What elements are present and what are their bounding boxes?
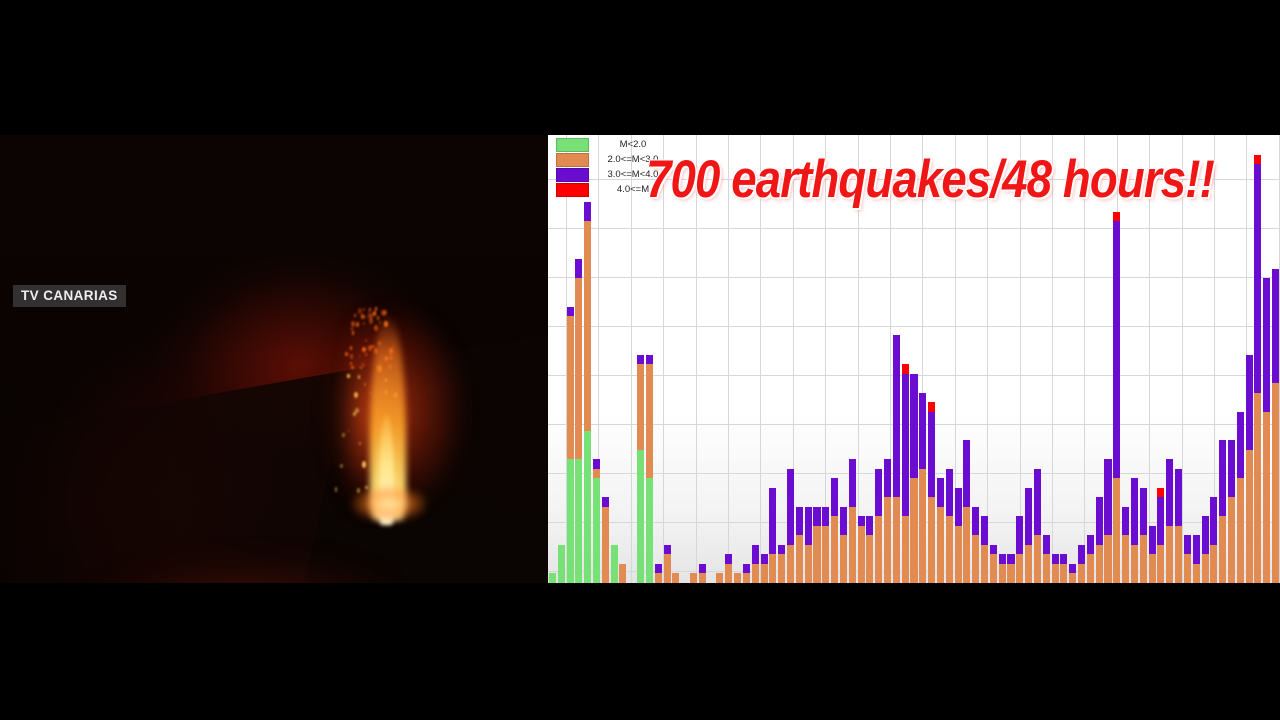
bar-segment-30M40 (1007, 554, 1014, 564)
bar-segment-20M30 (902, 516, 909, 583)
histogram-bar (646, 354, 653, 583)
bar-segment-30M40 (699, 564, 706, 574)
lava-particle (350, 362, 353, 366)
histogram-bar (963, 440, 970, 583)
histogram-bar (1149, 526, 1156, 583)
bar-segment-20M30 (1210, 545, 1217, 583)
histogram-bar (1246, 354, 1253, 583)
histogram-bar (1034, 469, 1041, 583)
lava-particle (373, 311, 377, 316)
histogram-bar (1122, 507, 1129, 583)
bar-segment-30M40 (1202, 516, 1209, 554)
bar-segment-20M30 (787, 545, 794, 583)
bar-segment-20M30 (646, 364, 653, 478)
histogram-bar (1016, 516, 1023, 583)
histogram-bar (893, 335, 900, 583)
lava-particle (352, 331, 354, 334)
bar-segment-30M40 (796, 507, 803, 536)
bar-segment-30M40 (1210, 497, 1217, 545)
histogram-bar (725, 554, 732, 583)
histogram-bar (769, 488, 776, 583)
bar-segment-20M30 (840, 535, 847, 583)
histogram-bar (1175, 469, 1182, 583)
bar-segment-20M30 (1219, 516, 1226, 583)
bar-segment-30M40 (655, 564, 662, 574)
bar-segment-20M30 (946, 516, 953, 583)
histogram-bar (1202, 516, 1209, 583)
histogram-bar (866, 516, 873, 583)
bar-segment-20M30 (734, 573, 741, 583)
bar-segment-30M40 (1219, 440, 1226, 516)
lava-particle (351, 366, 353, 369)
histogram-bar (1096, 497, 1103, 583)
bar-segment-M20 (637, 450, 644, 583)
histogram-bar (919, 393, 926, 583)
bar-segment-30M40 (1272, 269, 1279, 383)
bar-segment-30M40 (928, 412, 935, 498)
bar-segment-20M30 (761, 564, 768, 583)
bar-segment-20M30 (567, 316, 574, 459)
bar-segment-20M30 (972, 535, 979, 583)
histogram-bar (1228, 440, 1235, 583)
histogram-bar (840, 507, 847, 583)
bar-segment-30M40 (981, 516, 988, 545)
bar-segment-30M40 (1157, 497, 1164, 545)
bar-segment-30M40 (646, 355, 653, 365)
lava-particle (358, 375, 361, 379)
bar-segment-30M40 (919, 393, 926, 469)
lava-particle (351, 328, 352, 330)
bar-segment-20M30 (884, 497, 891, 583)
lava-particle (369, 318, 373, 324)
bar-segment-20M30 (769, 554, 776, 583)
bar-segment-20M30 (1069, 573, 1076, 583)
bar-segment-30M40 (999, 554, 1006, 564)
histogram-bar (690, 573, 697, 583)
bar-segment-30M40 (1175, 469, 1182, 526)
bar-segment-30M40 (849, 459, 856, 507)
bar-segment-30M40 (1052, 554, 1059, 564)
bar-segment-M20 (549, 573, 556, 583)
histogram-bar (584, 202, 591, 583)
lava-particle (351, 321, 355, 327)
bar-segment-30M40 (1140, 488, 1147, 536)
bar-segment-20M30 (743, 573, 750, 583)
bar-segment-30M40 (1060, 554, 1067, 564)
lava-particle (368, 345, 372, 351)
bar-segment-30M40 (725, 554, 732, 564)
lava-particle (363, 322, 365, 325)
histogram-bar (1219, 440, 1226, 583)
bar-segment-30M40 (1254, 164, 1261, 393)
histogram-bar (1087, 535, 1094, 583)
histogram-bar (858, 516, 865, 583)
lava-particle (362, 363, 364, 366)
histogram-bar (1060, 554, 1067, 583)
bar-segment-20M30 (1025, 545, 1032, 583)
bar-segment-30M40 (1078, 545, 1085, 564)
histogram-bar (1157, 488, 1164, 583)
histogram-bar (849, 459, 856, 583)
histogram-bar (619, 564, 626, 583)
bar-segment-30M40 (1034, 469, 1041, 536)
bar-segment-20M30 (672, 573, 679, 583)
bar-segment-20M30 (999, 564, 1006, 583)
histogram-bar (593, 459, 600, 583)
bar-segment-30M40 (761, 554, 768, 564)
lava-particle (354, 392, 358, 398)
bar-segment-M20 (611, 545, 618, 583)
bar-segment-20M30 (1272, 383, 1279, 583)
bar-segment-20M30 (655, 573, 662, 583)
bar-segment-30M40 (866, 516, 873, 535)
bar-segment-30M40 (813, 507, 820, 526)
bar-segment-20M30 (1246, 450, 1253, 583)
bar-segment-30M40 (1087, 535, 1094, 554)
bar-segment-20M30 (1052, 564, 1059, 583)
bar-segment-20M30 (593, 469, 600, 479)
bar-segment-30M40 (752, 545, 759, 564)
histogram-bar (558, 545, 565, 583)
lava-particle (359, 355, 360, 357)
bar-segment-30M40 (955, 488, 962, 526)
histogram-bar (1078, 545, 1085, 583)
bar-segment-20M30 (716, 573, 723, 583)
bar-segment-20M30 (919, 469, 926, 583)
bar-segment-20M30 (725, 564, 732, 583)
histogram-bar (1272, 269, 1279, 583)
lava-particle (342, 433, 345, 437)
histogram-bar (1254, 155, 1261, 583)
lava-particle (350, 346, 353, 350)
bar-segment-30M40 (1131, 478, 1138, 545)
histogram-bar (752, 545, 759, 583)
lava-particle (353, 412, 356, 416)
screenshot-root: TV CANARIAS M<2.02.0<=M<3.03.0<=M<4.04.0… (0, 0, 1280, 720)
bar-segment-20M30 (1113, 478, 1120, 583)
lava-particle (359, 442, 361, 445)
histogram-bar (1131, 478, 1138, 583)
bar-segment-20M30 (1166, 526, 1173, 583)
bar-segment-30M40 (1228, 440, 1235, 497)
bar-segment-20M30 (584, 221, 591, 430)
histogram-bar (637, 354, 644, 583)
bar-segment-20M30 (1096, 545, 1103, 583)
bar-segment-30M40 (840, 507, 847, 536)
bar-segment-30M40 (567, 307, 574, 317)
bar-segment-20M30 (1007, 564, 1014, 583)
lava-particle (356, 313, 357, 315)
lava-particle (356, 322, 359, 327)
bar-segment-20M30 (619, 564, 626, 583)
bar-segment-20M30 (875, 516, 882, 583)
bar-segment-20M30 (1202, 554, 1209, 583)
histogram-bar (1104, 459, 1111, 583)
bar-segment-20M30 (1149, 554, 1156, 583)
histogram-bar (734, 573, 741, 583)
bar-segment-30M40 (875, 469, 882, 517)
bar-segment-20M30 (955, 526, 962, 583)
bar-segment-20M30 (1228, 497, 1235, 583)
bar-segment-20M30 (1043, 554, 1050, 583)
legend-swatch-icon (556, 138, 589, 152)
histogram-bar (602, 497, 609, 583)
lava-particle (347, 374, 350, 378)
bar-segment-30M40 (1246, 355, 1253, 450)
histogram-bar (699, 564, 706, 583)
bar-segment-30M40 (1122, 507, 1129, 536)
bar-segment-20M30 (1157, 545, 1164, 583)
histogram-bar (999, 554, 1006, 583)
bar-segment-40M (902, 364, 909, 374)
bar-segment-30M40 (593, 459, 600, 469)
bar-segment-M20 (558, 545, 565, 583)
lava-particle (362, 347, 366, 352)
bar-segment-30M40 (1043, 535, 1050, 554)
histogram-bar (981, 516, 988, 583)
histogram-bar (655, 564, 662, 583)
bar-segment-40M (1254, 155, 1261, 165)
histogram-bar (1193, 535, 1200, 583)
bar-segment-20M30 (699, 573, 706, 583)
bar-segment-30M40 (664, 545, 671, 555)
histogram-bar (884, 459, 891, 583)
bar-segment-20M30 (1254, 393, 1261, 583)
bar-segment-30M40 (1104, 459, 1111, 535)
lava-particle (345, 352, 348, 356)
bar-segment-30M40 (1016, 516, 1023, 554)
histogram-bar (1025, 488, 1032, 583)
bar-segment-30M40 (1263, 278, 1270, 411)
histogram-bar (1007, 554, 1014, 583)
lava-particle (363, 308, 365, 312)
bar-segment-30M40 (990, 545, 997, 555)
bar-segment-30M40 (805, 507, 812, 545)
bar-segment-20M30 (637, 364, 644, 450)
volcano-video-panel: TV CANARIAS (0, 135, 548, 583)
histogram-bar (796, 507, 803, 583)
bar-segment-30M40 (963, 440, 970, 507)
bar-segment-30M40 (1096, 497, 1103, 545)
histogram-bar (743, 564, 750, 583)
bar-segment-20M30 (1193, 564, 1200, 583)
histogram-bar (990, 545, 997, 583)
bar-segment-20M30 (1122, 535, 1129, 583)
histogram-bar (611, 545, 618, 583)
legend-swatch-icon (556, 183, 589, 197)
histogram-bar (831, 478, 838, 583)
bar-segment-20M30 (893, 497, 900, 583)
bar-segment-20M30 (778, 554, 785, 583)
bar-segment-20M30 (1087, 554, 1094, 583)
tv-channel-watermark: TV CANARIAS (13, 285, 126, 307)
bar-segment-20M30 (1034, 535, 1041, 583)
bar-segment-30M40 (858, 516, 865, 526)
bar-segment-30M40 (1069, 564, 1076, 574)
lava-particle (365, 353, 367, 356)
bar-segment-30M40 (946, 469, 953, 517)
histogram-bar (778, 545, 785, 583)
bar-segment-30M40 (769, 488, 776, 555)
histogram-bar (1210, 497, 1217, 583)
bar-segment-20M30 (822, 526, 829, 583)
lava-channels-icon (95, 573, 375, 583)
bar-segment-M20 (593, 478, 600, 583)
bar-segment-20M30 (858, 526, 865, 583)
histogram-bar (822, 507, 829, 583)
bar-segment-30M40 (937, 478, 944, 507)
histogram-bar (575, 259, 582, 583)
bar-segment-30M40 (575, 259, 582, 278)
bar-segment-20M30 (849, 507, 856, 583)
earthquake-histogram-panel: M<2.02.0<=M<3.03.0<=M<4.04.0<=M 700 eart… (548, 135, 1280, 583)
bar-segment-30M40 (1193, 535, 1200, 564)
histogram-bar (787, 469, 794, 583)
bar-segment-30M40 (893, 335, 900, 497)
lava-particle (350, 354, 353, 358)
bar-segment-20M30 (1060, 564, 1067, 583)
histogram-bar (1184, 535, 1191, 583)
lava-particle (377, 316, 379, 320)
lava-particle (361, 314, 364, 319)
histogram-bar (549, 573, 556, 583)
bar-segment-20M30 (664, 554, 671, 583)
bar-segment-20M30 (1237, 478, 1244, 583)
histogram-bar (1237, 412, 1244, 583)
bar-segment-30M40 (902, 374, 909, 517)
histogram-bar (928, 402, 935, 583)
lava-particle (355, 408, 358, 413)
histogram-bar (805, 507, 812, 583)
lava-particle (369, 308, 371, 312)
bar-segment-M20 (567, 459, 574, 583)
bar-segment-30M40 (1025, 488, 1032, 545)
bar-segment-20M30 (813, 526, 820, 583)
histogram-bar (1069, 564, 1076, 583)
bar-segment-20M30 (1131, 545, 1138, 583)
bar-segment-20M30 (1263, 412, 1270, 583)
bar-segment-20M30 (602, 507, 609, 583)
bar-segment-20M30 (752, 564, 759, 583)
histogram-bar (567, 307, 574, 583)
histogram-bar (672, 573, 679, 583)
bar-segment-30M40 (602, 497, 609, 507)
bar-segment-M20 (646, 478, 653, 583)
lava-particle (362, 461, 366, 467)
bar-segment-20M30 (1016, 554, 1023, 583)
histogram-bar (910, 374, 917, 583)
histogram-bar (1052, 554, 1059, 583)
lava-particle (374, 325, 378, 331)
histogram-bar (972, 507, 979, 583)
bar-segment-20M30 (981, 545, 988, 583)
bar-segment-20M30 (1078, 564, 1085, 583)
lava-particle (348, 429, 350, 431)
bar-segment-20M30 (796, 535, 803, 583)
bar-segment-30M40 (884, 459, 891, 497)
bar-segment-30M40 (1166, 459, 1173, 526)
bar-segment-M20 (575, 459, 582, 583)
bar-segment-20M30 (928, 497, 935, 583)
bar-segment-30M40 (584, 202, 591, 221)
bar-segment-30M40 (1113, 221, 1120, 478)
bar-segment-20M30 (1104, 535, 1111, 583)
lava-particle (375, 307, 377, 310)
bar-segment-40M (1113, 212, 1120, 222)
bar-segment-20M30 (575, 278, 582, 459)
bar-segment-20M30 (1175, 526, 1182, 583)
bar-segment-20M30 (805, 545, 812, 583)
bar-segment-20M30 (910, 478, 917, 583)
headline-overlay: 700 earthquakes/48 hours!! (646, 149, 1214, 210)
lava-particle (365, 339, 367, 342)
histogram-bar (1263, 278, 1270, 583)
lava-particle (364, 383, 365, 385)
histogram-bar (761, 554, 768, 583)
bar-segment-M20 (584, 431, 591, 583)
bar-segment-40M (1157, 488, 1164, 498)
bar-segment-20M30 (990, 554, 997, 583)
histogram-bar (664, 545, 671, 583)
bar-segment-20M30 (963, 507, 970, 583)
bar-segment-20M30 (831, 516, 838, 583)
histogram-bar (955, 488, 962, 583)
bar-segment-30M40 (1237, 412, 1244, 479)
histogram-bar (875, 469, 882, 583)
histogram-bar (813, 507, 820, 583)
bar-segment-30M40 (778, 545, 785, 555)
histogram-bar (1166, 459, 1173, 583)
histogram-bar (937, 478, 944, 583)
vent-glow (352, 487, 426, 521)
bar-segment-20M30 (866, 535, 873, 583)
bar-segment-30M40 (910, 374, 917, 479)
histogram-bar (716, 573, 723, 583)
bar-segment-20M30 (690, 573, 697, 583)
lava-particle (354, 314, 356, 317)
bar-segment-30M40 (1184, 535, 1191, 554)
bar-segment-30M40 (831, 478, 838, 516)
legend-swatch-icon (556, 153, 589, 167)
bar-segment-20M30 (1184, 554, 1191, 583)
bar-segment-20M30 (937, 507, 944, 583)
bar-segment-20M30 (1140, 535, 1147, 583)
histogram-bar (946, 469, 953, 583)
bar-segment-30M40 (637, 355, 644, 365)
legend-swatch-icon (556, 168, 589, 182)
lava-particle (340, 464, 343, 469)
bar-segment-30M40 (822, 507, 829, 526)
histogram-bar (902, 364, 909, 583)
histogram-bar (1113, 212, 1120, 583)
bar-segment-30M40 (743, 564, 750, 574)
lava-flow-field (95, 573, 375, 583)
bar-segment-30M40 (972, 507, 979, 536)
histogram-bar (1043, 535, 1050, 583)
bar-segment-40M (928, 402, 935, 412)
lava-particle (360, 367, 361, 369)
histogram-bar (1140, 488, 1147, 583)
bar-segment-30M40 (1149, 526, 1156, 555)
bar-segment-30M40 (787, 469, 794, 545)
